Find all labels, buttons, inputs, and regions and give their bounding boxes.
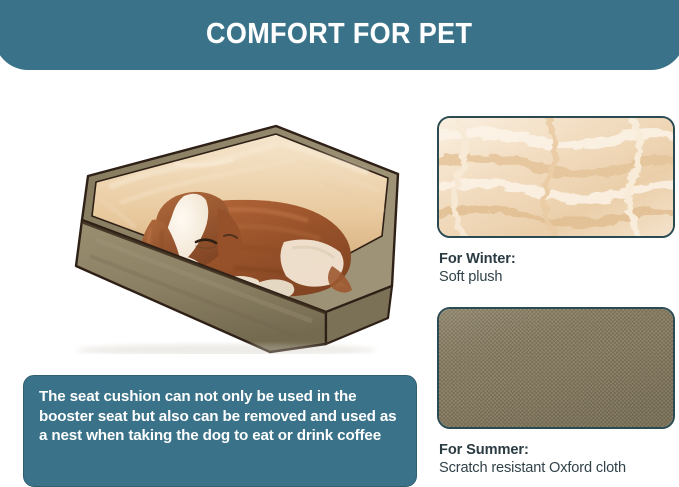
caption-box: The seat cushion can not only be used in… [23,375,417,487]
header-banner: COMFORT FOR PET [0,0,679,70]
summer-label-subtitle: Scratch resistant Oxford cloth [439,459,679,478]
product-photo [26,116,416,354]
summer-label-group: For Summer: Scratch resistant Oxford clo… [439,441,679,478]
summer-label-title: For Summer: [439,441,679,459]
dog-sleeping-in-pet-bed-photo [26,116,416,354]
winter-label-subtitle: Soft plush [439,268,679,287]
winter-label-group: For Winter: Soft plush [439,250,679,287]
oxford-cloth-texture [439,309,673,427]
oxford-cloth-fabric-swatch [437,307,675,429]
soft-plush-texture [439,118,673,236]
caption-text: The seat cushion can not only be used in… [39,387,401,446]
winter-label-title: For Winter: [439,250,679,268]
page-title: COMFORT FOR PET [206,14,472,51]
soft-plush-fabric-swatch [437,116,675,238]
